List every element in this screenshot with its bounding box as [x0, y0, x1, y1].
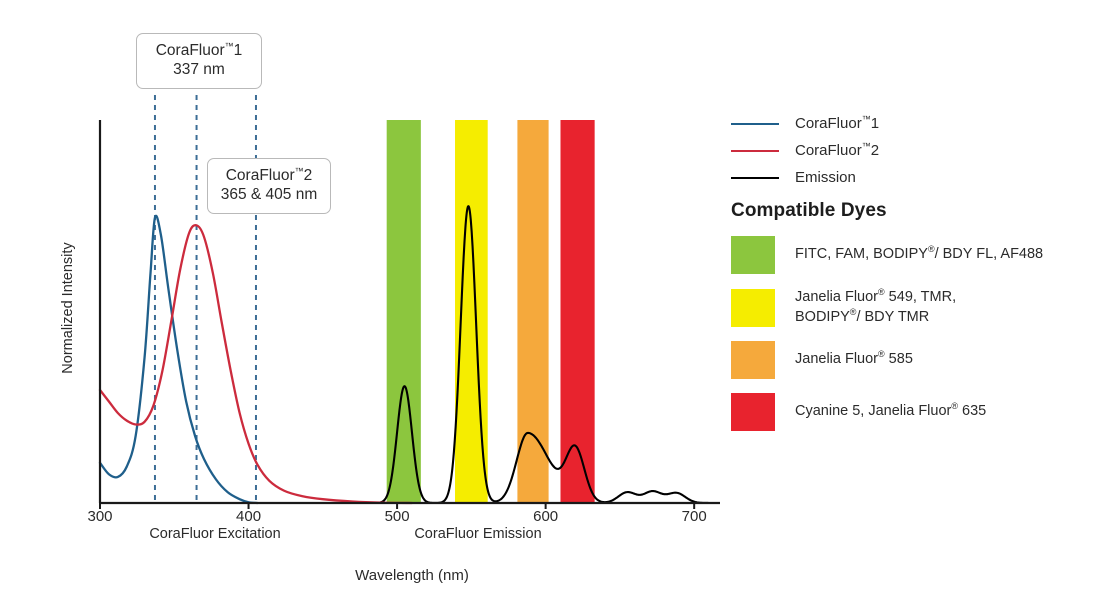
legend-line-swatch	[731, 150, 779, 152]
compatible-dyes-title: Compatible Dyes	[731, 200, 887, 222]
legend-item-1[interactable]: CoraFluor™1	[731, 110, 1101, 137]
axis-sublabel-emission: CoraFluor Emission	[395, 526, 561, 542]
callout-cf2-line2: 365 & 405 nm	[220, 185, 318, 204]
callout-corafluor-1: CoraFluor™1 337 nm	[136, 33, 262, 89]
x-axis-tick-label-500: 500	[367, 508, 427, 525]
spectra-chart: CoraFluor™1 337 nm CoraFluor™2 365 & 405…	[0, 0, 1110, 612]
legend-item-label: Emission	[795, 169, 856, 186]
dye-color-swatch	[731, 341, 775, 379]
legend-item-label: CoraFluor™1	[795, 115, 879, 132]
y-axis-title: Normalized Intensity	[60, 218, 76, 398]
orange-band	[517, 120, 548, 503]
dye-item-label: Cyanine 5, Janelia Fluor® 635	[795, 402, 986, 422]
registered-symbol: ®	[928, 244, 935, 254]
dye-label-line: BODIPY®/ BDY TMR	[795, 308, 956, 328]
trademark-symbol: ™	[225, 41, 234, 51]
dye-item-2[interactable]: Janelia Fluor® 549, TMR,BODIPY®/ BDY TMR	[731, 288, 1103, 327]
dye-label-line: Janelia Fluor® 585	[795, 350, 913, 370]
callout-cf2-line1: CoraFluor™2	[220, 166, 318, 185]
dye-color-swatch	[731, 393, 775, 431]
callout-cf1-line2: 337 nm	[149, 60, 249, 79]
dye-color-swatch	[731, 289, 775, 327]
compatible-dyes-list: FITC, FAM, BODIPY®/ BDY FL, AF488Janelia…	[731, 236, 1103, 445]
x-axis-tick-label-300: 300	[70, 508, 130, 525]
legend-item-3[interactable]: Emission	[731, 164, 1101, 191]
registered-symbol: ®	[878, 287, 885, 297]
dye-label-line: Janelia Fluor® 549, TMR,	[795, 288, 956, 308]
legend-item-label: CoraFluor™2	[795, 142, 879, 159]
dye-item-3[interactable]: Janelia Fluor® 585	[731, 341, 1103, 379]
callout-cf1-line1: CoraFluor™1	[149, 41, 249, 60]
trademark-symbol: ™	[862, 114, 871, 124]
dye-item-1[interactable]: FITC, FAM, BODIPY®/ BDY FL, AF488	[731, 236, 1103, 274]
callout-corafluor-2: CoraFluor™2 365 & 405 nm	[207, 158, 331, 214]
trademark-symbol: ™	[295, 166, 304, 176]
dye-item-label: Janelia Fluor® 549, TMR,BODIPY®/ BDY TMR	[795, 288, 956, 327]
dye-item-label: Janelia Fluor® 585	[795, 350, 913, 370]
dye-item-label: FITC, FAM, BODIPY®/ BDY FL, AF488	[795, 245, 1043, 265]
dye-label-line: FITC, FAM, BODIPY®/ BDY FL, AF488	[795, 245, 1043, 265]
dye-item-4[interactable]: Cyanine 5, Janelia Fluor® 635	[731, 393, 1103, 431]
series-legend: CoraFluor™1CoraFluor™2Emission	[731, 110, 1101, 191]
trademark-symbol: ™	[862, 141, 871, 151]
green-band	[387, 120, 421, 503]
legend-line-swatch	[731, 177, 779, 179]
red-band	[560, 120, 594, 503]
x-axis-tick-label-600: 600	[516, 508, 576, 525]
x-axis-title: Wavelength (nm)	[312, 567, 512, 584]
dye-label-line: Cyanine 5, Janelia Fluor® 635	[795, 402, 986, 422]
registered-symbol: ®	[878, 350, 885, 360]
legend-line-swatch	[731, 123, 779, 125]
x-axis-tick-label-400: 400	[219, 508, 279, 525]
legend-item-2[interactable]: CoraFluor™2	[731, 137, 1101, 164]
axis-sublabel-excitation: CoraFluor Excitation	[132, 526, 298, 542]
x-axis-tick-label-700: 700	[664, 508, 724, 525]
excitation-curve-corafluor-1	[100, 216, 257, 503]
dye-color-swatch	[731, 236, 775, 274]
